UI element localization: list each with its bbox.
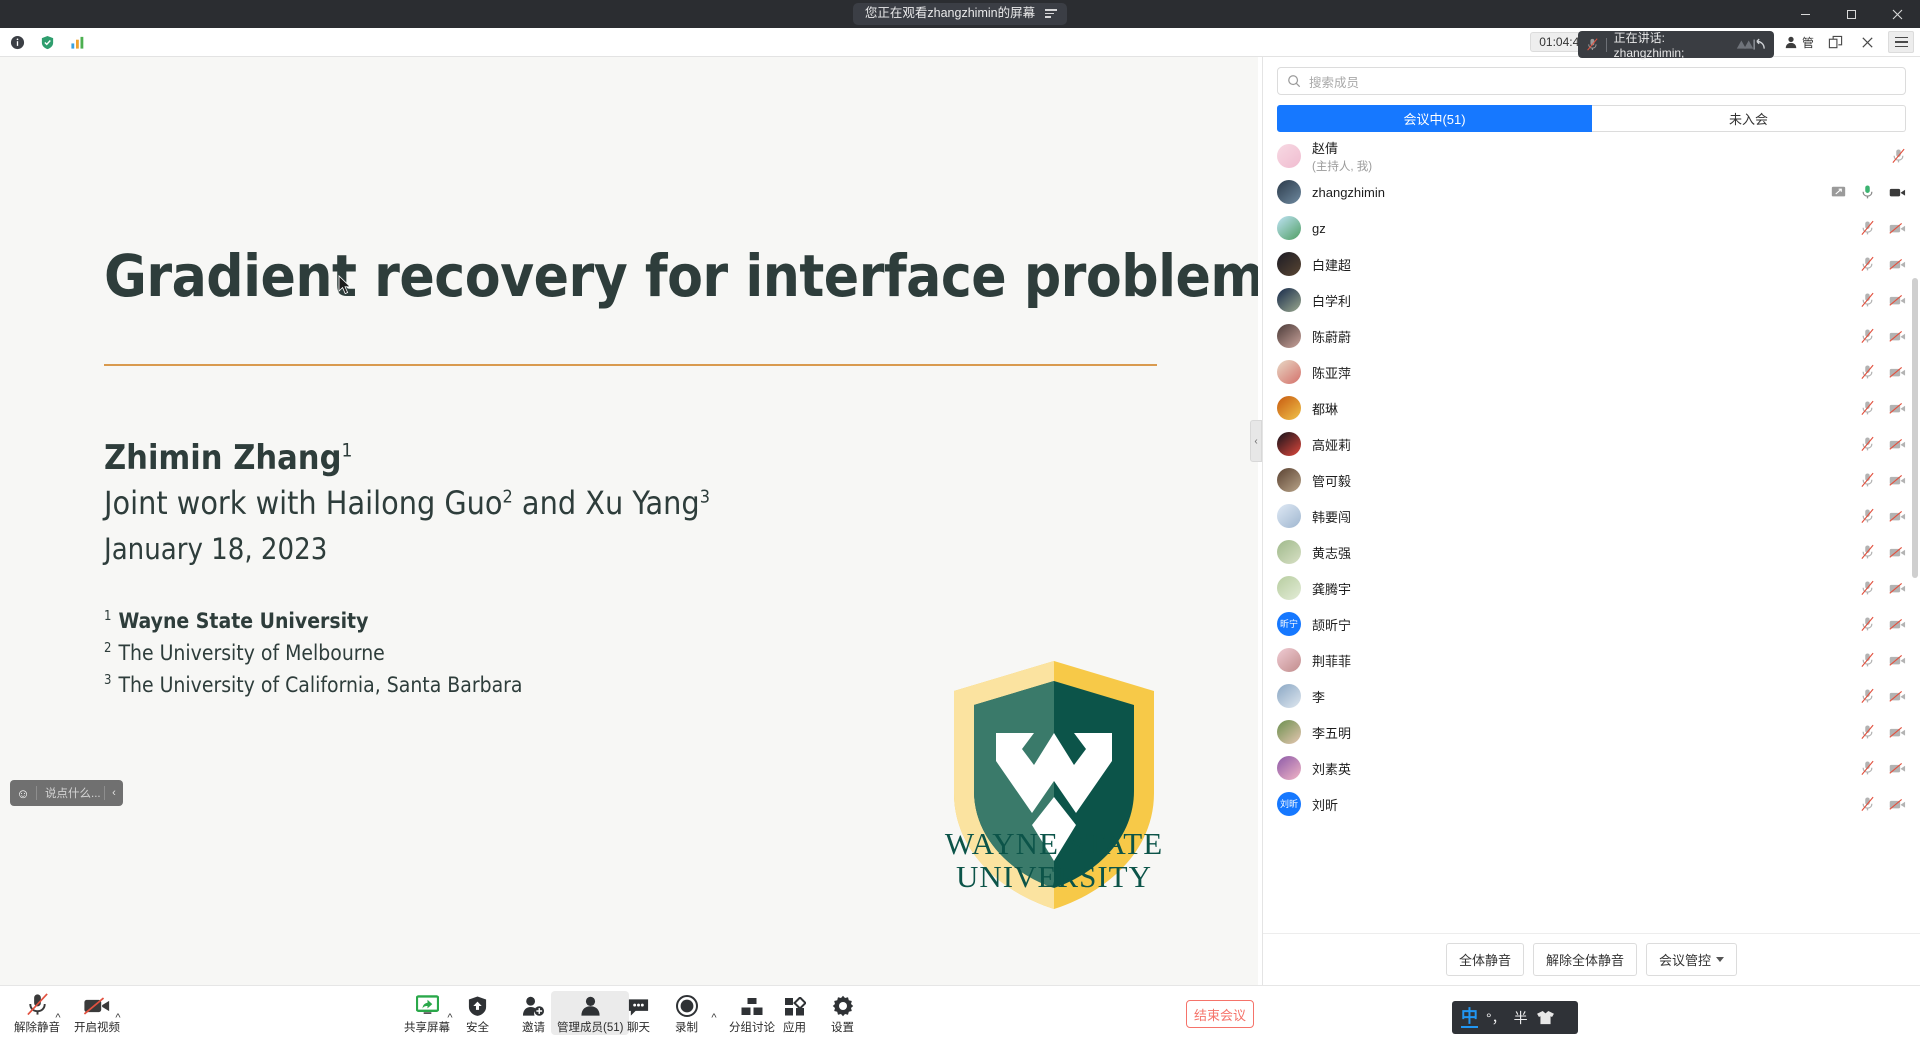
- participant-row[interactable]: 高娅莉: [1263, 426, 1920, 462]
- meeting-control-button[interactable]: 会议管控: [1646, 943, 1737, 976]
- speaking-toast-label: 正在讲话: zhangzhimin;: [1614, 29, 1728, 60]
- participant-name-group: 高娅莉: [1312, 435, 1351, 454]
- author-name-superscript: 1: [342, 440, 353, 462]
- slide-date: January 18, 2023: [104, 525, 710, 574]
- participant-row[interactable]: 龚腾宇: [1263, 570, 1920, 606]
- participant-actions: [1860, 796, 1906, 812]
- meeting-control-label: 会议管控: [1659, 950, 1711, 969]
- participants-tabs: 会议中(51) 未入会: [1263, 101, 1920, 132]
- participant-name-group: 白学利: [1312, 291, 1351, 310]
- mic-muted-icon[interactable]: [1860, 220, 1875, 236]
- mic-on-icon[interactable]: [1860, 184, 1875, 200]
- meeting-bottom-bar: 解除静音 ^ 开启视频 ^ 共享屏幕: [0, 985, 1920, 1042]
- participant-name-group: 韩要闯: [1312, 507, 1351, 526]
- watching-screen-label: 您正在观看zhangzhimin的屏幕: [865, 7, 1035, 20]
- invite-label: 邀请: [522, 1019, 545, 1035]
- participant-actions: [1860, 616, 1906, 632]
- end-meeting-button[interactable]: 结束会议: [1186, 1000, 1254, 1028]
- avatar: 刘昕: [1277, 792, 1301, 816]
- participant-row[interactable]: 李: [1263, 678, 1920, 714]
- participant-name: 陈亚萍: [1312, 363, 1351, 382]
- avatar: [1277, 216, 1301, 240]
- toast-divider: [1606, 38, 1607, 52]
- participant-row[interactable]: 荆菲菲: [1263, 642, 1920, 678]
- participant-name: 李: [1312, 687, 1325, 706]
- breakout-rooms-icon: [741, 993, 763, 1017]
- title-bar: 您正在观看zhangzhimin的屏幕: [0, 0, 1920, 28]
- participant-row[interactable]: 昕宁颉昕宁: [1263, 606, 1920, 642]
- participant-name-group: 颉昕宁: [1312, 615, 1351, 634]
- participant-row[interactable]: 黄志强: [1263, 534, 1920, 570]
- participants-panel: 搜索成员 会议中(51) 未入会 赵倩(主持人, 我)zhangzhimingz…: [1262, 57, 1920, 985]
- mic-muted-icon[interactable]: [1860, 688, 1875, 704]
- manage-participants-label: 管理成员(51): [557, 1019, 623, 1035]
- breakout-rooms-button[interactable]: 分组讨论: [723, 991, 781, 1035]
- participant-name: 白学利: [1312, 291, 1351, 310]
- mic-muted-icon[interactable]: [1860, 400, 1875, 416]
- share-screen-icon: [416, 993, 439, 1017]
- toolbar-left-icons: [0, 33, 86, 51]
- participants-scrollbar-thumb[interactable]: [1912, 278, 1918, 578]
- affiliation-item: 3The University of California, Santa Bar…: [104, 670, 523, 702]
- mute-all-button[interactable]: 全体静音: [1446, 943, 1524, 976]
- participant-name-group: 白建超: [1312, 255, 1351, 274]
- participant-name-group: 龚腾宇: [1312, 579, 1351, 598]
- record-button[interactable]: 录制: [669, 991, 704, 1035]
- screen-share-icon[interactable]: [1831, 186, 1846, 199]
- mic-options-caret[interactable]: ^: [52, 1012, 64, 1024]
- participant-row[interactable]: 李五明: [1263, 714, 1920, 750]
- avatar: [1277, 360, 1301, 384]
- joint-work-sup-1: 2: [503, 486, 513, 507]
- camera-off-icon[interactable]: [1889, 618, 1906, 631]
- participant-name-group: 李: [1312, 687, 1325, 706]
- wordmark-line-2: UNIVERSITY: [940, 860, 1168, 893]
- participant-name-group: 赵倩(主持人, 我): [1312, 138, 1372, 174]
- participant-name: 黄志强: [1312, 543, 1351, 562]
- participant-row[interactable]: gz: [1263, 210, 1920, 246]
- mic-muted-icon[interactable]: [1860, 616, 1875, 632]
- close-button[interactable]: [1874, 0, 1920, 28]
- camera-off-icon[interactable]: [1889, 402, 1906, 415]
- affiliation-number: 2: [104, 641, 111, 656]
- video-off-icon: [83, 993, 111, 1017]
- participant-name: 白建超: [1312, 255, 1351, 274]
- participant-actions: [1831, 184, 1906, 200]
- participant-actions: [1860, 760, 1906, 776]
- camera-off-icon[interactable]: [1889, 762, 1906, 775]
- avatar: [1277, 720, 1301, 744]
- author-name-text: Zhimin Zhang: [104, 438, 342, 478]
- ime-indicator-bar[interactable]: 中 °， 半: [1452, 1001, 1578, 1034]
- participant-name: 韩要闯: [1312, 507, 1351, 526]
- camera-on-icon[interactable]: [1889, 186, 1906, 199]
- participant-row[interactable]: 刘素英: [1263, 750, 1920, 786]
- participant-name: 高娅莉: [1312, 435, 1351, 454]
- participant-actions: [1860, 724, 1906, 740]
- participant-row[interactable]: 陈亚萍: [1263, 354, 1920, 390]
- participant-name: zhangzhimin: [1312, 185, 1385, 200]
- participant-row[interactable]: 白建超: [1263, 246, 1920, 282]
- hamburger-icon[interactable]: [1888, 31, 1914, 53]
- mic-muted-icon[interactable]: [1891, 148, 1906, 164]
- participant-name-group: 荆菲菲: [1312, 651, 1351, 670]
- avatar: [1277, 432, 1301, 456]
- audio-wave-icon: [1735, 37, 1766, 53]
- participant-row[interactable]: 白学利: [1263, 282, 1920, 318]
- record-label: 录制: [675, 1019, 698, 1035]
- camera-off-icon[interactable]: [1889, 546, 1906, 559]
- participant-row[interactable]: 赵倩(主持人, 我): [1263, 138, 1920, 174]
- menu-lines-icon[interactable]: [1045, 9, 1057, 18]
- participant-actions: [1860, 652, 1906, 668]
- participant-name: 陈蔚蔚: [1312, 327, 1351, 346]
- avatar: [1277, 396, 1301, 420]
- tab-in-meeting[interactable]: 会议中(51): [1277, 105, 1592, 132]
- apps-button[interactable]: 应用: [777, 991, 812, 1035]
- apps-label: 应用: [783, 1019, 806, 1035]
- wordmark-line-1: WAYNE STATE: [940, 827, 1168, 860]
- chevron-left-icon[interactable]: ‹: [105, 787, 123, 799]
- video-options-caret[interactable]: ^: [112, 1012, 124, 1024]
- avatar: [1277, 468, 1301, 492]
- participant-name: 管可毅: [1312, 471, 1351, 490]
- shared-screen-stage[interactable]: Gradient recovery for interface problems…: [0, 57, 1258, 985]
- quick-chat-input[interactable]: 说点什么...: [37, 785, 104, 801]
- ime-punctuation-mode[interactable]: °，: [1486, 1008, 1506, 1028]
- avatar: [1277, 288, 1301, 312]
- window-controls: [1782, 0, 1920, 28]
- mic-muted-icon[interactable]: [1860, 256, 1875, 272]
- participant-name-group: gz: [1312, 221, 1326, 236]
- affiliation-number: 1: [104, 609, 111, 624]
- participant-actions: [1860, 256, 1906, 272]
- camera-off-icon[interactable]: [1889, 654, 1906, 667]
- participant-actions: [1860, 472, 1906, 488]
- participant-actions: [1860, 292, 1906, 308]
- mic-muted-icon[interactable]: [1860, 508, 1875, 524]
- participant-name-group: 刘素英: [1312, 759, 1351, 778]
- close-icon[interactable]: [1856, 32, 1878, 52]
- quick-chat-bar[interactable]: ☺ 说点什么... ‹: [10, 780, 123, 806]
- participant-name: 刘昕: [1312, 795, 1338, 814]
- affiliation-number: 3: [104, 673, 111, 688]
- affiliation-name: Wayne State University: [118, 609, 368, 633]
- joint-work-prefix: Joint work with Hailong Guo: [104, 484, 503, 522]
- participant-actions: [1860, 436, 1906, 452]
- participant-name: 颉昕宁: [1312, 615, 1351, 634]
- participant-name-group: 刘昕: [1312, 795, 1338, 814]
- affiliation-name: The University of California, Santa Barb…: [118, 673, 522, 697]
- participant-actions: [1860, 508, 1906, 524]
- chat-label: 聊天: [627, 1019, 650, 1035]
- participant-actions: [1860, 688, 1906, 704]
- camera-off-icon[interactable]: [1889, 690, 1906, 703]
- shirt-icon[interactable]: [1536, 1010, 1555, 1025]
- mic-muted-icon[interactable]: [1860, 760, 1875, 776]
- avatar: [1277, 540, 1301, 564]
- settings-button[interactable]: 设置: [825, 991, 860, 1035]
- participant-name-group: 李五明: [1312, 723, 1351, 742]
- security-button[interactable]: 安全: [460, 991, 495, 1035]
- camera-off-icon[interactable]: [1889, 438, 1906, 451]
- chat-bubble-icon: [627, 993, 650, 1017]
- joint-work-mid: and Xu Yang: [513, 484, 700, 522]
- avatar: [1277, 144, 1301, 168]
- person-icon: [1784, 35, 1798, 49]
- security-label: 安全: [466, 1019, 489, 1035]
- panel-collapse-handle[interactable]: ‹: [1250, 420, 1262, 462]
- mic-muted-icon[interactable]: [1860, 328, 1875, 344]
- participant-actions: [1860, 220, 1906, 236]
- joint-work-line: Joint work with Hailong Guo2 and Xu Yang…: [104, 481, 710, 526]
- mic-muted-icon: [25, 993, 50, 1017]
- mic-muted-icon[interactable]: [1860, 580, 1875, 596]
- avatar: [1277, 684, 1301, 708]
- participant-name: 刘素英: [1312, 759, 1351, 778]
- info-icon[interactable]: [8, 33, 26, 51]
- camera-off-icon[interactable]: [1889, 726, 1906, 739]
- camera-off-icon[interactable]: [1889, 258, 1906, 271]
- participants-list[interactable]: 赵倩(主持人, 我)zhangzhimingz白建超白学利陈蔚蔚陈亚萍都琳高娅莉…: [1263, 138, 1920, 933]
- camera-off-icon[interactable]: [1889, 474, 1906, 487]
- affiliation-name: The University of Melbourne: [118, 641, 384, 665]
- slide-affiliations: 1Wayne State University 2The University …: [104, 606, 523, 702]
- mic-muted-icon[interactable]: [1860, 724, 1875, 740]
- participants-panel-footer: 全体静音 解除全体静音 会议管控: [1263, 933, 1920, 985]
- camera-off-icon[interactable]: [1889, 222, 1906, 235]
- participant-name: 荆菲菲: [1312, 651, 1351, 670]
- participant-actions: [1860, 580, 1906, 596]
- participant-actions: [1860, 544, 1906, 560]
- invite-button[interactable]: 邀请: [516, 991, 551, 1035]
- shield-up-icon: [467, 993, 488, 1017]
- record-circle-icon: [676, 993, 698, 1017]
- affiliation-item: 1Wayne State University: [104, 606, 523, 638]
- mic-muted-icon[interactable]: [1860, 364, 1875, 380]
- participant-name-group: 陈蔚蔚: [1312, 327, 1351, 346]
- camera-off-icon[interactable]: [1889, 366, 1906, 379]
- shield-icon[interactable]: [38, 33, 56, 51]
- participant-row[interactable]: zhangzhimin: [1263, 174, 1920, 210]
- author-name: Zhimin Zhang1: [104, 437, 710, 481]
- slide-author-block: Zhimin Zhang1 Joint work with Hailong Gu…: [104, 437, 710, 575]
- camera-off-icon[interactable]: [1889, 798, 1906, 811]
- mic-muted-icon[interactable]: [1860, 652, 1875, 668]
- participant-actions: [1860, 364, 1906, 380]
- participant-name: 龚腾宇: [1312, 579, 1351, 598]
- participant-name-group: 黄志强: [1312, 543, 1351, 562]
- maximize-button[interactable]: [1828, 0, 1874, 28]
- speaking-toast: 正在讲话: zhangzhimin;: [1578, 31, 1774, 58]
- meeting-window: 您正在观看zhangzhimin的屏幕: [0, 0, 1920, 1042]
- slide-divider-rule: [104, 364, 1157, 366]
- participant-actions: [1860, 400, 1906, 416]
- apps-icon: [784, 993, 806, 1017]
- participant-name-group: zhangzhimin: [1312, 185, 1385, 200]
- host-label: 管: [1802, 34, 1814, 51]
- avatar: [1277, 576, 1301, 600]
- host-chip[interactable]: 管: [1784, 34, 1814, 51]
- search-area: 搜索成员: [1263, 57, 1920, 101]
- participant-name-group: 陈亚萍: [1312, 363, 1351, 382]
- affiliation-item: 2The University of Melbourne: [104, 638, 523, 670]
- mic-muted-icon[interactable]: [1860, 292, 1875, 308]
- participant-actions: [1860, 328, 1906, 344]
- search-placeholder: 搜索成员: [1309, 72, 1359, 91]
- record-options-caret[interactable]: ^: [708, 1012, 720, 1024]
- share-options-caret[interactable]: ^: [444, 1012, 456, 1024]
- ime-width-mode[interactable]: 半: [1514, 1008, 1528, 1028]
- camera-off-icon[interactable]: [1889, 330, 1906, 343]
- avatar: [1277, 756, 1301, 780]
- participant-name: 赵倩: [1312, 138, 1372, 157]
- participants-icon: [579, 993, 602, 1017]
- participant-row[interactable]: 管可毅: [1263, 462, 1920, 498]
- participant-role: (主持人, 我): [1312, 158, 1372, 174]
- tab-not-joined[interactable]: 未入会: [1592, 105, 1906, 132]
- avatar: [1277, 252, 1301, 276]
- participant-row[interactable]: 韩要闯: [1263, 498, 1920, 534]
- avatar: [1277, 648, 1301, 672]
- camera-off-icon[interactable]: [1889, 294, 1906, 307]
- mic-muted-icon: [1586, 37, 1599, 52]
- camera-off-icon[interactable]: [1889, 582, 1906, 595]
- mic-muted-icon[interactable]: [1860, 796, 1875, 812]
- participant-name: gz: [1312, 221, 1326, 236]
- wayne-state-wordmark: WAYNE STATE UNIVERSITY: [940, 827, 1168, 894]
- mouse-cursor-icon: [338, 275, 352, 295]
- participant-actions: [1891, 148, 1906, 164]
- search-icon: [1287, 74, 1301, 88]
- breakout-rooms-label: 分组讨论: [729, 1019, 775, 1035]
- minimize-button[interactable]: [1782, 0, 1828, 28]
- invite-person-icon: [522, 993, 545, 1017]
- participant-name: 都琳: [1312, 399, 1338, 418]
- camera-off-icon[interactable]: [1889, 510, 1906, 523]
- popout-icon[interactable]: [1824, 32, 1846, 52]
- mic-muted-icon[interactable]: [1860, 436, 1875, 452]
- settings-label: 设置: [831, 1019, 854, 1035]
- mic-muted-icon[interactable]: [1860, 472, 1875, 488]
- presentation-slide: Gradient recovery for interface problems…: [0, 57, 1258, 985]
- search-input[interactable]: 搜索成员: [1277, 67, 1906, 95]
- unmute-all-button[interactable]: 解除全体静音: [1533, 943, 1637, 976]
- avatar: [1277, 324, 1301, 348]
- watching-screen-pill[interactable]: 您正在观看zhangzhimin的屏幕: [853, 3, 1067, 25]
- participants-scrollbar-track[interactable]: [1913, 138, 1919, 933]
- participant-row[interactable]: 刘昕刘昕: [1263, 786, 1920, 822]
- avatar: 昕宁: [1277, 612, 1301, 636]
- joint-work-sup-2: 3: [700, 486, 710, 507]
- chevron-down-icon: [1716, 957, 1724, 962]
- participant-name: 李五明: [1312, 723, 1351, 742]
- chevron-left-icon: ‹: [1254, 436, 1257, 447]
- participant-row[interactable]: 陈蔚蔚: [1263, 318, 1920, 354]
- participant-row[interactable]: 都琳: [1263, 390, 1920, 426]
- emoji-icon[interactable]: ☺: [10, 786, 36, 801]
- slide-title: Gradient recovery for interface problems: [104, 242, 1164, 310]
- manage-participants-button[interactable]: 管理成员(51): [551, 991, 629, 1035]
- participant-name-group: 管可毅: [1312, 471, 1351, 490]
- avatar: [1277, 504, 1301, 528]
- chat-button[interactable]: 聊天: [621, 991, 656, 1035]
- participant-name-group: 都琳: [1312, 399, 1338, 418]
- avatar: [1277, 180, 1301, 204]
- mic-muted-icon[interactable]: [1860, 544, 1875, 560]
- gear-icon: [832, 993, 854, 1017]
- stats-icon[interactable]: [68, 33, 86, 51]
- ime-mode-chinese[interactable]: 中: [1461, 1008, 1478, 1028]
